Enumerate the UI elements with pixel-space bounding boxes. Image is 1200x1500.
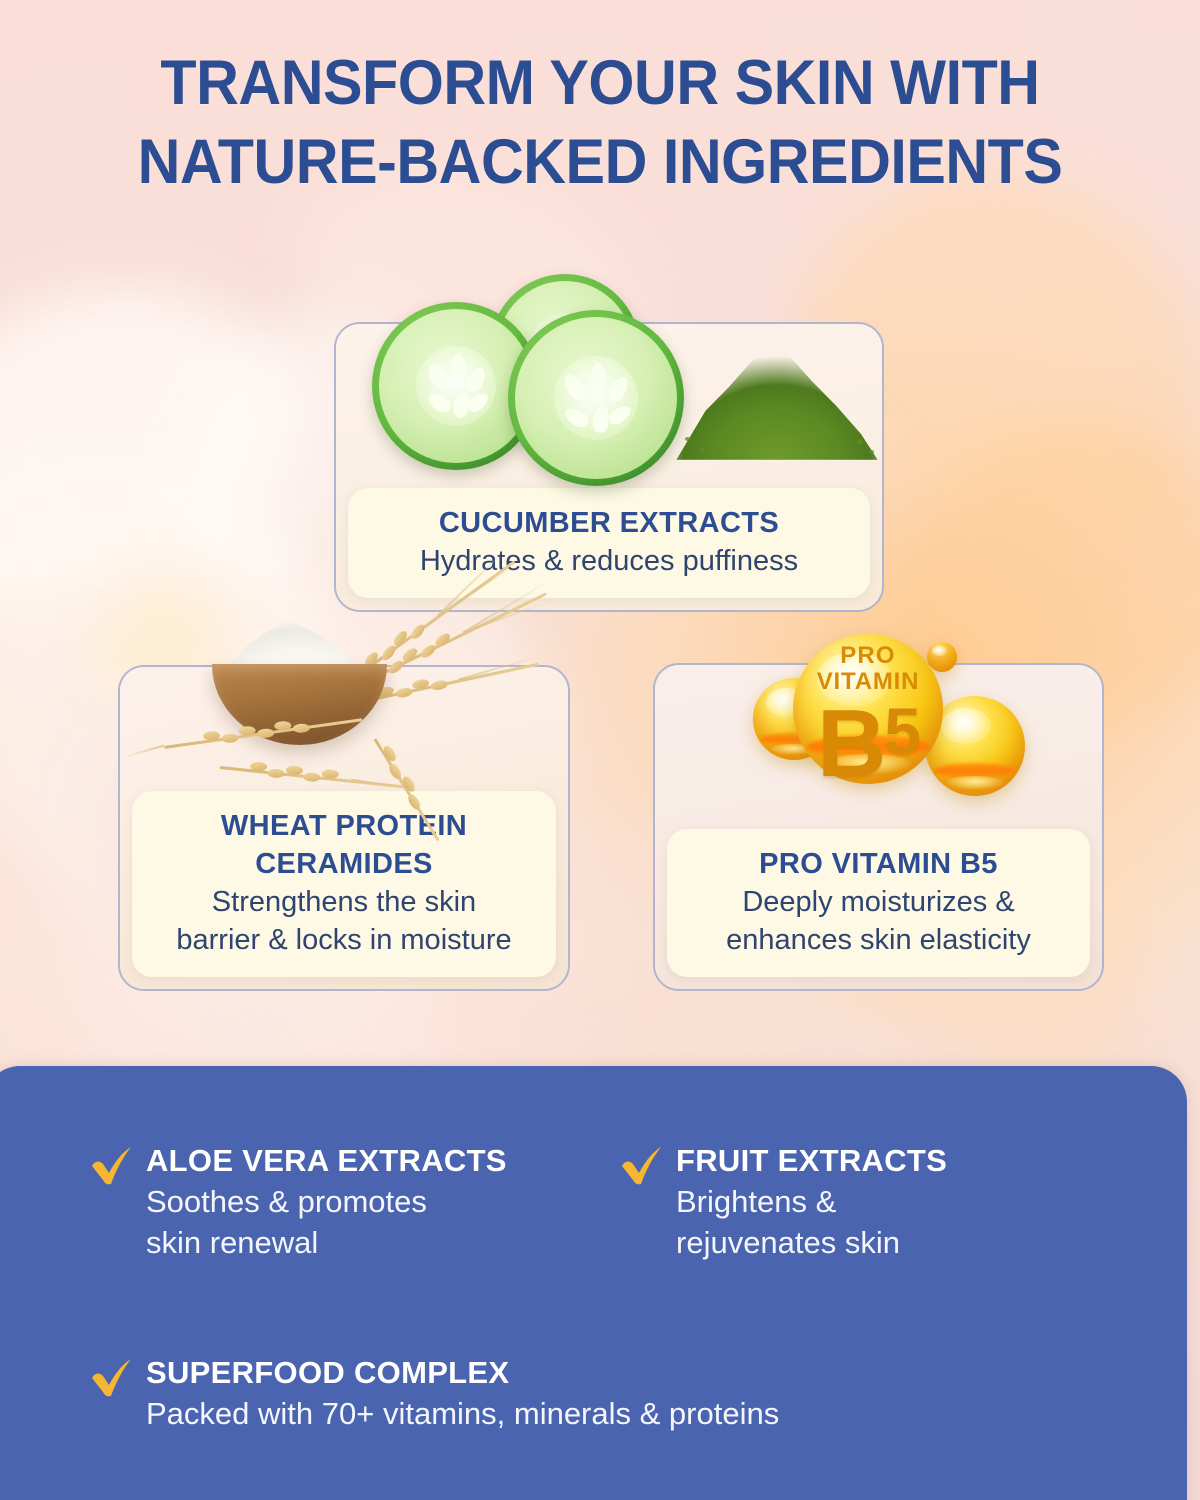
benefit-line-1: Brightens &	[676, 1181, 1116, 1222]
cucumber-card-label: CUCUMBER EXTRACTS Hydrates & reduces puf…	[348, 488, 870, 598]
wheat-card-label: WHEAT PROTEIN CERAMIDES Strengthens the …	[132, 791, 556, 977]
page-title: TRANSFORM YOUR SKIN WITH NATURE-BACKED I…	[36, 44, 1164, 202]
benefit-item-superfood-complex: SUPERFOOD COMPLEX Packed with 70+ vitami…	[146, 1352, 1046, 1434]
benefit-title: SUPERFOOD COMPLEX	[146, 1352, 1046, 1393]
checkmark-icon	[90, 1358, 134, 1398]
ingredient-card-cucumber: CUCUMBER EXTRACTS Hydrates & reduces puf…	[334, 322, 884, 612]
wheat-card-desc-line-1: Strengthens the skin	[146, 883, 542, 921]
benefit-item-fruit-extracts: FRUIT EXTRACTS Brightens & rejuvenates s…	[676, 1140, 1116, 1263]
b5-card-label: PRO VITAMIN B5 Deeply moisturizes & enha…	[667, 829, 1090, 977]
benefits-panel: ALOE VERA EXTRACTS Soothes & promotes sk…	[0, 1066, 1187, 1500]
benefit-title: ALOE VERA EXTRACTS	[146, 1140, 616, 1181]
benefits-grid: ALOE VERA EXTRACTS Soothes & promotes sk…	[146, 1140, 1146, 1263]
benefit-title: FRUIT EXTRACTS	[676, 1140, 1116, 1181]
headline-line-2: NATURE-BACKED INGREDIENTS	[36, 123, 1164, 202]
wheat-card-title-line-1: WHEAT PROTEIN	[146, 807, 542, 845]
ingredient-card-wheat: WHEAT PROTEIN CERAMIDES Strengthens the …	[118, 665, 570, 991]
wheat-card-title-line-2: CERAMIDES	[146, 845, 542, 883]
checkmark-icon	[620, 1146, 664, 1186]
wheat-card-desc-line-2: barrier & locks in moisture	[146, 921, 542, 959]
b5-card-title: PRO VITAMIN B5	[681, 845, 1076, 883]
ingredient-card-pro-vitamin-b5: PRO VITAMIN B5 Deeply moisturizes & enha…	[653, 663, 1104, 991]
headline-line-1: TRANSFORM YOUR SKIN WITH	[36, 44, 1164, 123]
b5-card-desc-line-2: enhances skin elasticity	[681, 921, 1076, 959]
cucumber-card-desc: Hydrates & reduces puffiness	[362, 542, 856, 580]
b5-card-desc-line-1: Deeply moisturizes &	[681, 883, 1076, 921]
cucumber-card-title: CUCUMBER EXTRACTS	[362, 504, 856, 542]
infographic-root: TRANSFORM YOUR SKIN WITH NATURE-BACKED I…	[0, 0, 1200, 1500]
benefit-line-1: Packed with 70+ vitamins, minerals & pro…	[146, 1393, 1046, 1434]
benefit-item-aloe-vera: ALOE VERA EXTRACTS Soothes & promotes sk…	[146, 1140, 616, 1263]
checkmark-icon	[90, 1146, 134, 1186]
benefit-line-2: skin renewal	[146, 1222, 616, 1263]
benefit-line-1: Soothes & promotes	[146, 1181, 616, 1222]
benefit-line-2: rejuvenates skin	[676, 1222, 1116, 1263]
